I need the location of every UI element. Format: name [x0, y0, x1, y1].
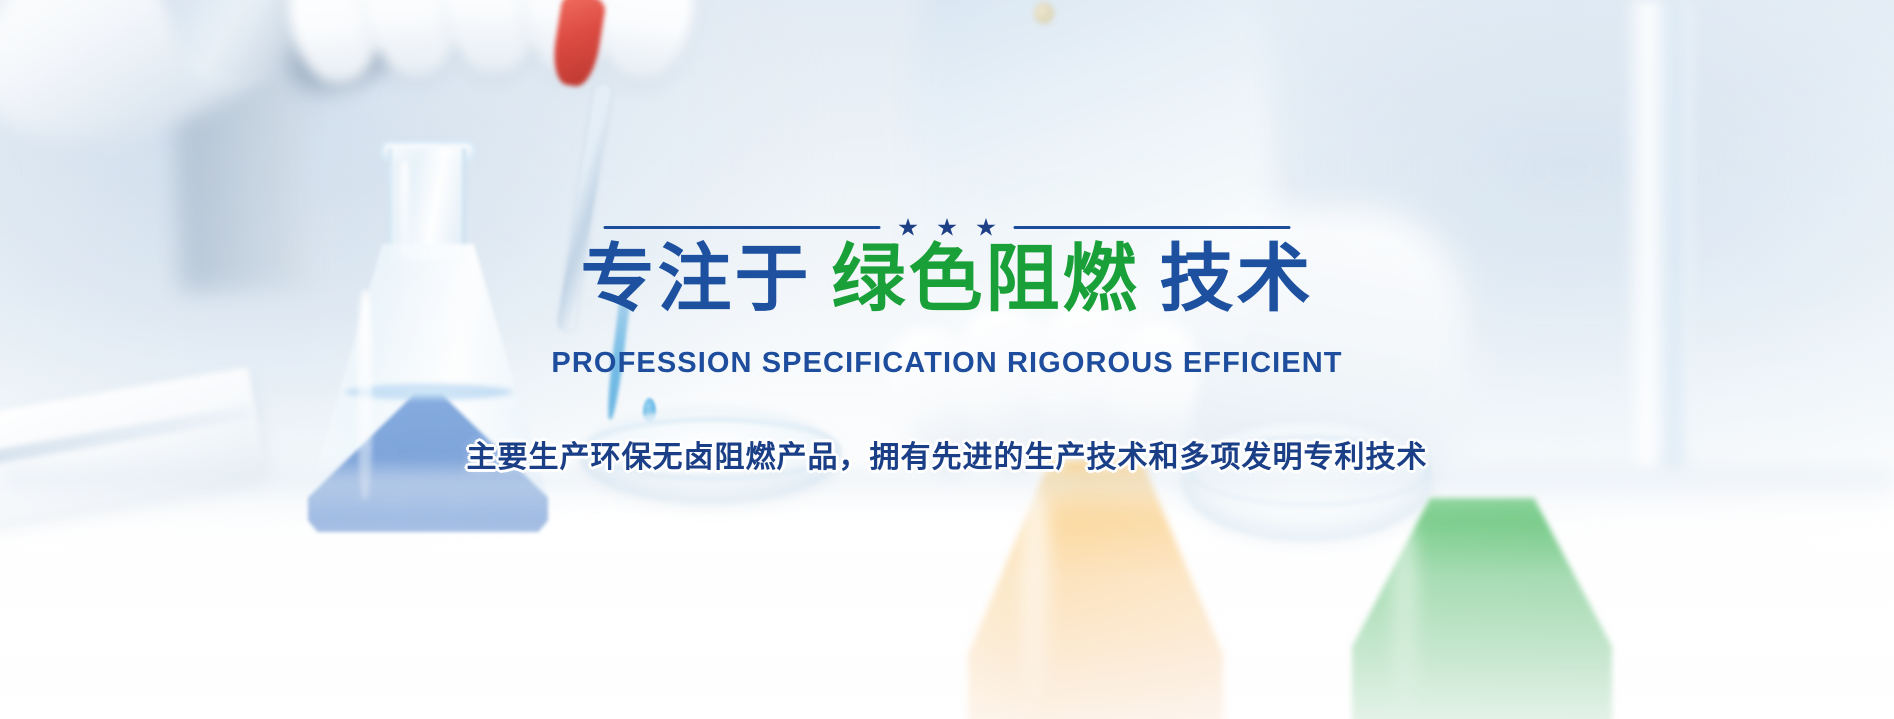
flask-green-liquid	[1352, 498, 1612, 719]
flask-neck-highlight	[400, 160, 409, 256]
glass-cylinder	[1624, 0, 1694, 470]
flask-green-icon	[1352, 498, 1612, 719]
flask-green-highlight	[1392, 522, 1418, 712]
flask-orange-highlight	[1020, 490, 1050, 700]
hero-banner: 专注于绿色阻燃技术 PROFESSION SPECIFICATION RIGOR…	[0, 0, 1894, 719]
coat-button	[1034, 2, 1054, 24]
bench-edge	[0, 470, 1894, 516]
flask-highlight	[358, 290, 372, 500]
background-photo	[0, 0, 1894, 719]
gloved-fingers-icon	[290, 0, 710, 103]
